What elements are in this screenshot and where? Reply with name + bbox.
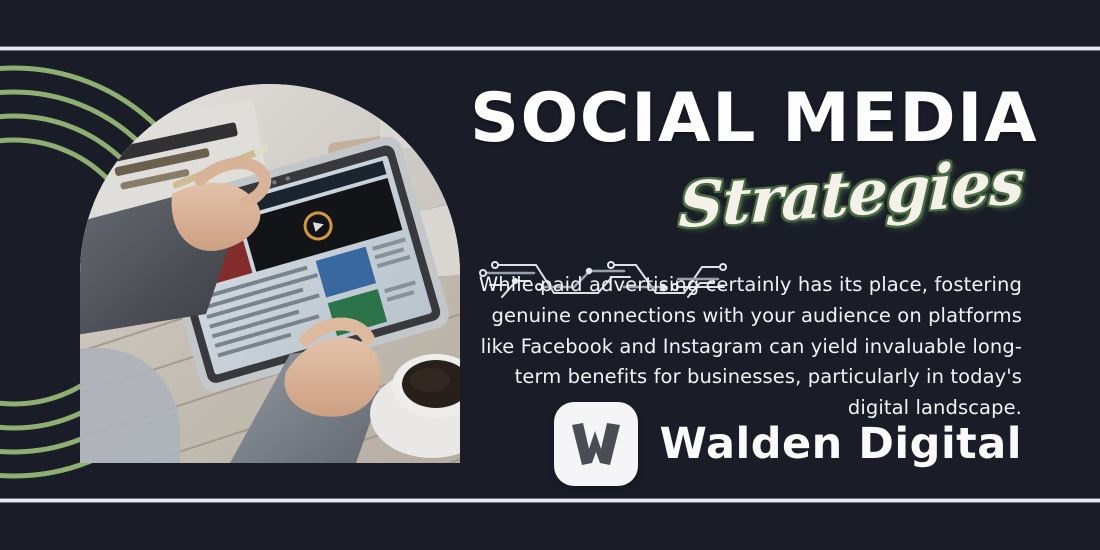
w-monogram-icon [570,422,622,466]
brand-wordmark: Walden Digital [660,423,1022,466]
content-column: SOCIAL MEDIA [470,84,1022,484]
page-title: SOCIAL MEDIA [470,86,1022,153]
hero-photo [80,84,460,463]
top-divider-rule [0,46,1100,51]
script-subtitle: Strategies [678,150,1025,236]
brand-logo-lockup: Walden Digital [554,402,1022,486]
logo-monogram-mark [554,402,638,486]
body-paragraph: While paid advertising certainly has its… [470,270,1022,424]
bottom-divider-rule [0,498,1100,503]
social-media-banner: SOCIAL MEDIA [0,0,1100,550]
script-title-row: Strategies [470,149,1022,235]
